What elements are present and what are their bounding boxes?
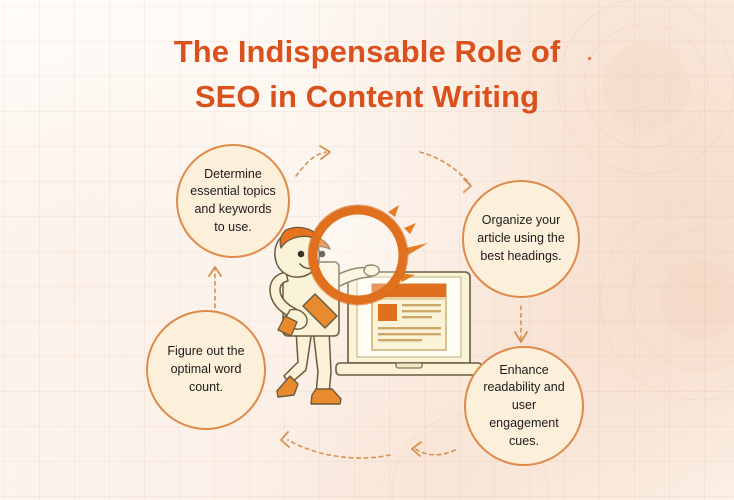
cycle-step-1-label: Determine essential topics and keywords …	[188, 166, 278, 237]
diagram-artwork	[0, 0, 734, 500]
cycle-step-3[interactable]: Enhance readability and user engagement …	[464, 346, 584, 466]
laptop-trackpad-notch	[396, 363, 422, 368]
cycle-step-2[interactable]: Organize your article using the best hea…	[462, 180, 580, 298]
illustration-group	[270, 205, 482, 404]
person-shoe-front	[311, 389, 341, 404]
shine-ray-2	[404, 223, 416, 234]
arrow-1-path	[296, 152, 326, 176]
cycle-step-4[interactable]: Figure out the optimal word count.	[146, 310, 266, 430]
document-card-thumbnail	[378, 304, 397, 321]
shine-ray-3	[406, 243, 428, 255]
person-leg-front	[313, 330, 331, 394]
arrow-4-path	[414, 448, 455, 455]
arrow-2-path	[420, 152, 470, 184]
infographic-canvas: The Indispensable Role of SEO in Content…	[0, 0, 734, 500]
cycle-step-2-label: Organize your article using the best hea…	[474, 212, 568, 265]
cycle-step-1[interactable]: Determine essential topics and keywords …	[176, 144, 290, 258]
person-eye-left	[298, 251, 305, 258]
arrow-5-path	[288, 440, 390, 458]
person-leg-back	[284, 330, 312, 384]
shine-ray-1	[388, 205, 399, 217]
cycle-step-4-label: Figure out the optimal word count.	[158, 343, 254, 396]
cycle-step-3-label: Enhance readability and user engagement …	[476, 362, 572, 451]
magnifying-glass	[308, 205, 408, 305]
